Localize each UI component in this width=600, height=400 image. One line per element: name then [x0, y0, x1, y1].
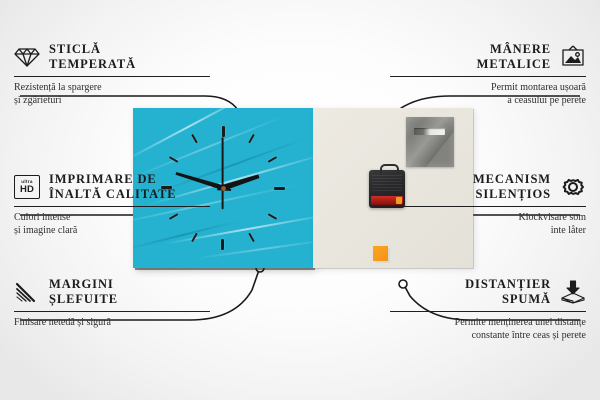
ultra-hd-icon-main-text: HD — [20, 185, 34, 195]
callout-desc-line1: Permit montarea ușoară — [390, 81, 586, 94]
callout-title-line2: SILENȚIOS — [473, 187, 551, 202]
callout-metal-handles: MÂNERE METALICE Permit montarea ușoară a… — [390, 42, 586, 107]
callout-desc-line1: Permite menținerea unei distanțe — [390, 316, 586, 329]
clock-center-cap — [221, 186, 226, 191]
callout-title-line1: MECANISM — [473, 172, 551, 187]
gear-icon — [560, 174, 586, 200]
hanging-picture-frame-icon — [560, 44, 586, 70]
callout-title-line2: ȘLEFUITE — [49, 292, 118, 307]
callout-desc-line2: inte låter — [390, 224, 586, 237]
callout-rule — [14, 311, 210, 312]
hanger-keyhole-slot — [414, 128, 445, 135]
callout-rule — [390, 76, 586, 77]
callout-foam-spacer: DISTANȚIER SPUMĂ Permite menținerea unei… — [390, 277, 586, 342]
callout-title-line1: STICLĂ — [49, 42, 136, 57]
callout-title-line1: MÂNERE — [477, 42, 551, 57]
callout-desc-line2: a ceasului pe perete — [390, 94, 586, 107]
callout-silent-mechanism: MECANISM SILENȚIOS Klockvisare som inte … — [390, 172, 586, 237]
callout-title-line2: TEMPERATĂ — [49, 57, 136, 72]
callout-title-line2: SPUMĂ — [465, 292, 551, 307]
callout-polished-edges: MARGINI ȘLEFUITE Finisare netedă și sigu… — [14, 277, 210, 329]
callout-desc-line1: Culori intense — [14, 211, 210, 224]
callout-desc-line1: Rezistență la spargere — [14, 81, 210, 94]
callout-title-line1: IMPRIMARE DE — [49, 172, 177, 187]
callout-desc-line1: Klockvisare som — [390, 211, 586, 224]
callout-title-line1: DISTANȚIER — [465, 277, 551, 292]
clock-second-hand — [222, 137, 224, 209]
callout-desc-line2: constante între ceas și perete — [390, 329, 586, 342]
metal-hanger-plate — [406, 117, 454, 167]
callout-tempered-glass: STICLĂ TEMPERATĂ Rezistență la spargere … — [14, 42, 210, 107]
callout-title-line2: METALICE — [477, 57, 551, 72]
callout-desc-line2: și zgârieturi — [14, 94, 210, 107]
callout-hd-print: ultra HD IMPRIMARE DE ÎNALTĂ CALITATE Cu… — [14, 172, 210, 237]
infographic-canvas: STICLĂ TEMPERATĂ Rezistență la spargere … — [0, 0, 600, 400]
callout-rule — [14, 206, 210, 207]
foam-spacer-pad — [373, 246, 388, 261]
callout-rule — [14, 76, 210, 77]
ultra-hd-icon: ultra HD — [14, 174, 40, 200]
callout-desc-line2: și imagine clară — [14, 224, 210, 237]
callout-rule — [390, 311, 586, 312]
diagonal-lines-icon — [14, 279, 40, 305]
callout-title-line1: MARGINI — [49, 277, 118, 292]
callout-desc-line1: Finisare netedă și sigură — [14, 316, 210, 329]
diamond-icon — [14, 44, 40, 70]
callout-title-line2: ÎNALTĂ CALITATE — [49, 187, 177, 202]
callout-rule — [390, 206, 586, 207]
arrow-down-onto-pad-icon — [560, 279, 586, 305]
